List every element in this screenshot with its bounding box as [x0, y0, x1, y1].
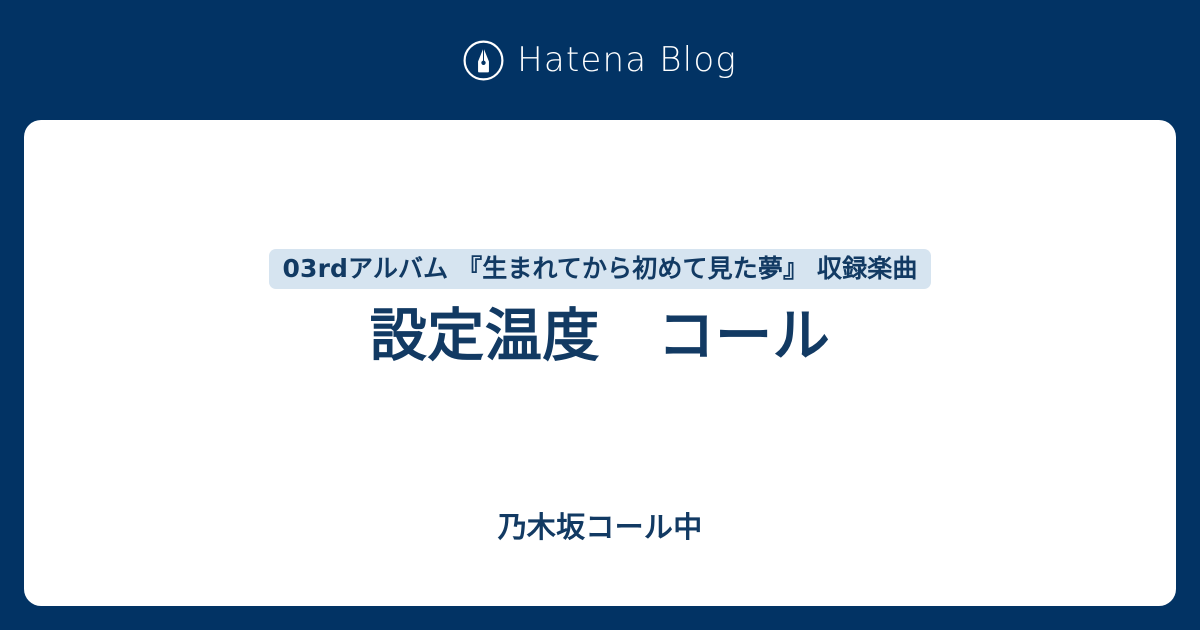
entry-title: 設定温度 コール — [370, 303, 831, 370]
entry-main-block: 03rdアルバム 『生まれてから初めて見た夢』 収録楽曲 設定温度 コール — [24, 120, 1176, 500]
ogp-card-canvas: Hatena Blog 03rdアルバム 『生まれてから初めて見た夢』 収録楽曲… — [0, 0, 1200, 630]
hatena-pen-nib-icon — [463, 40, 504, 81]
entry-card: 03rdアルバム 『生まれてから初めて見た夢』 収録楽曲 設定温度 コール 乃木… — [24, 120, 1176, 606]
hatena-blog-wordmark: Hatena Blog — [517, 43, 737, 77]
blog-name: 乃木坂コール中 — [24, 510, 1176, 545]
category-badge: 03rdアルバム 『生まれてから初めて見た夢』 収録楽曲 — [269, 249, 932, 289]
hatena-blog-brand: Hatena Blog — [0, 0, 1200, 120]
